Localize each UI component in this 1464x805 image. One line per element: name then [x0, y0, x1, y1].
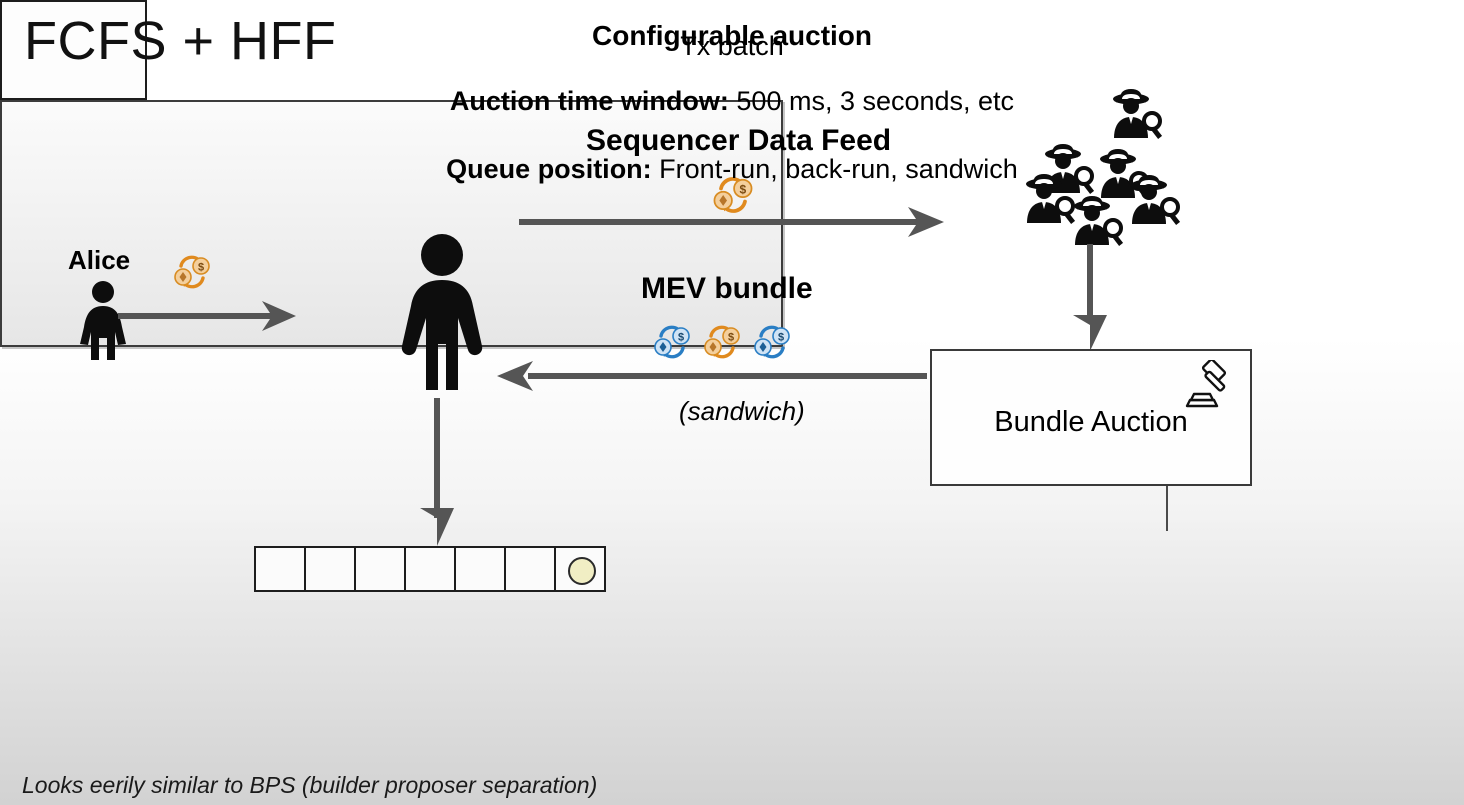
sequencer-data-feed-label: Sequencer Data Feed: [586, 124, 891, 158]
svg-text:$: $: [198, 262, 204, 274]
arrow-head-right: [908, 207, 944, 242]
config-row-value: 500 ms, 3 seconds, etc: [736, 86, 1014, 116]
configurable-auction-title: Configurable auction: [0, 20, 1464, 52]
tx-queue: [254, 546, 606, 592]
detective-spy-icon: [1069, 195, 1129, 252]
arrow-head-right: [262, 301, 296, 336]
gavel-icon: [1176, 360, 1232, 421]
connector-auction-to-config: [1166, 486, 1168, 531]
currency-exchange-icon-blue: $: [650, 322, 694, 367]
queue-cell: [304, 546, 356, 592]
queue-cell: [254, 546, 306, 592]
config-row-queue-position: Queue position: Front-run, back-run, san…: [0, 154, 1464, 185]
svg-text:$: $: [778, 332, 784, 344]
config-row-value: Front-run, back-run, sandwich: [659, 154, 1018, 184]
currency-exchange-icon-blue: $: [750, 322, 794, 367]
arrow-alice-to-sequencer: [118, 313, 278, 319]
queue-cell: [454, 546, 506, 592]
svg-text:$: $: [728, 332, 734, 344]
mev-bundle-label: MEV bundle: [641, 272, 813, 306]
bundle-auction-box: Bundle Auction: [930, 349, 1252, 486]
slide-canvas: FCFS + HFF Alice $: [0, 0, 1464, 805]
arrow-auction-to-sequencer: [528, 373, 927, 379]
person-pictogram-sequencer: [396, 234, 488, 399]
alice-label: Alice: [68, 245, 130, 276]
queue-token-icon: [568, 557, 596, 585]
config-row-label: Queue position:: [446, 154, 659, 184]
queue-cell-filled: [554, 546, 606, 592]
svg-text:$: $: [678, 332, 684, 344]
queue-cell: [504, 546, 556, 592]
config-row-label: Auction time window:: [450, 86, 736, 116]
currency-exchange-icon-orange: $: [170, 252, 214, 297]
queue-cell: [354, 546, 406, 592]
arrow-searchers-to-auction: [1087, 244, 1093, 322]
config-row-time-window: Auction time window: 500 ms, 3 seconds, …: [0, 86, 1464, 117]
arrow-head-left: [497, 361, 533, 396]
currency-exchange-icon-orange: $: [700, 322, 744, 367]
woman-pictogram: [75, 280, 131, 365]
sandwich-annotation: (sandwich): [679, 396, 805, 427]
arrow-sequencer-to-queue: [434, 398, 440, 518]
arrow-feed-to-searchers: [519, 219, 921, 225]
footnote-caption: Looks eerily similar to BPS (builder pro…: [22, 772, 597, 799]
queue-cell: [404, 546, 456, 592]
arrow-head-down: [420, 508, 454, 551]
